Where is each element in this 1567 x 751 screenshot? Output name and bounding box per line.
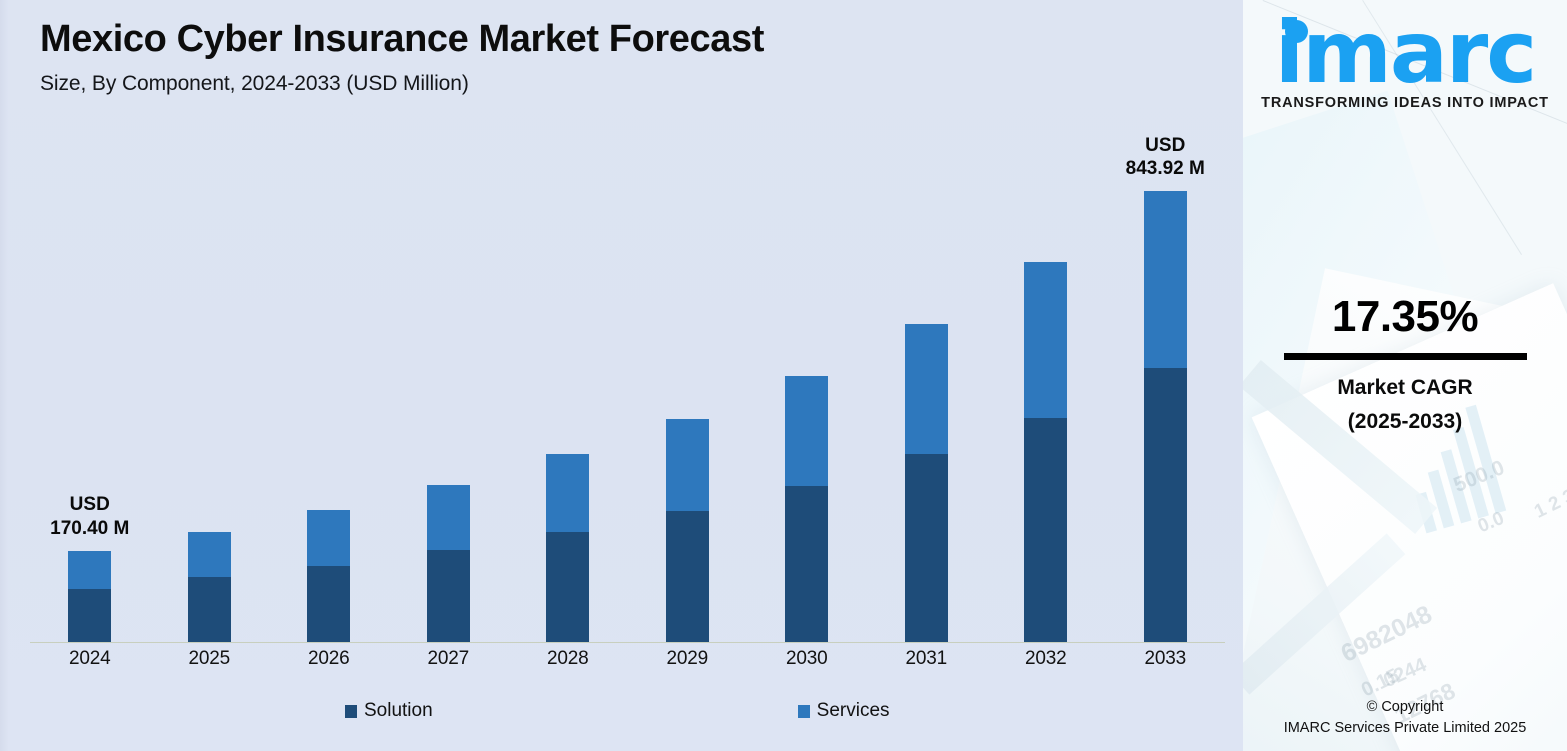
bar-group-2026[interactable] [269, 120, 389, 642]
bar-segment-services[interactable] [188, 532, 231, 577]
bar-group-2028[interactable] [508, 120, 628, 642]
bar-segment-solution[interactable] [1024, 418, 1067, 642]
bar-group-2030[interactable] [747, 120, 867, 642]
bar-segment-services[interactable] [666, 419, 709, 511]
x-axis-tick-2033: 2033 [1106, 648, 1226, 670]
bar-segment-solution[interactable] [785, 486, 828, 642]
bar-group-2031[interactable] [867, 120, 987, 642]
legend-label-services: Services [817, 700, 890, 722]
bar-segment-solution[interactable] [188, 577, 231, 642]
bar-group-2032[interactable] [986, 120, 1106, 642]
bar-group-2027[interactable] [389, 120, 509, 642]
bar-stack[interactable] [666, 419, 709, 642]
bar-stack[interactable] [905, 324, 948, 642]
legend-swatch-services [798, 705, 810, 718]
bar-segment-services[interactable] [1024, 262, 1067, 418]
x-axis-tick-2031: 2031 [867, 648, 987, 670]
bar-segment-services[interactable] [546, 454, 589, 532]
x-axis-labels: 2024202520262027202820292030203120322033 [30, 648, 1225, 670]
x-axis-tick-2026: 2026 [269, 648, 389, 670]
bar-segment-solution[interactable] [307, 566, 350, 642]
bar-segment-solution[interactable] [666, 511, 709, 642]
x-axis-tick-2027: 2027 [389, 648, 509, 670]
bar-series-container: USD170.40 MUSD843.92 M [30, 120, 1225, 642]
infographic-root: Mexico Cyber Insurance Market Forecast S… [0, 0, 1567, 751]
logo-dot-icon [1285, 20, 1308, 43]
legend-item-solution[interactable]: Solution [345, 700, 433, 722]
bar-value-label-2024: USD170.40 M [50, 493, 129, 541]
value-label-line-2: 170.40 M [50, 517, 129, 541]
cagr-period: (2025-2033) [1243, 410, 1567, 434]
x-axis-line [30, 642, 1225, 643]
x-axis-tick-2028: 2028 [508, 648, 628, 670]
page-subtitle: Size, By Component, 2024-2033 (USD Milli… [40, 72, 764, 96]
imarc-wordmark: imarc [1275, 14, 1536, 93]
cagr-label: Market CAGR [1243, 376, 1567, 400]
bar-segment-solution[interactable] [68, 589, 111, 642]
bar-segment-services[interactable] [1144, 191, 1187, 368]
bar-segment-services[interactable] [785, 376, 828, 486]
bar-segment-solution[interactable] [546, 532, 589, 642]
bar-segment-solution[interactable] [427, 550, 470, 642]
title-block: Mexico Cyber Insurance Market Forecast S… [40, 18, 764, 96]
brand-content: imarc TRANSFORMING IDEAS INTO IMPACT 17.… [1243, 0, 1567, 751]
page-title: Mexico Cyber Insurance Market Forecast [40, 18, 764, 62]
bar-stack[interactable] [1144, 191, 1187, 642]
bar-group-2029[interactable] [628, 120, 748, 642]
bar-stack[interactable] [785, 376, 828, 642]
bar-segment-solution[interactable] [905, 454, 948, 642]
x-axis-tick-2025: 2025 [150, 648, 270, 670]
bar-stack[interactable] [546, 454, 589, 642]
bar-stack[interactable] [1024, 262, 1067, 642]
bar-group-2033[interactable]: USD843.92 M [1106, 120, 1226, 642]
brand-panel: 500.0 0.0 1 2 3 4 6982048 12768 0244 0.1… [1243, 0, 1567, 751]
x-axis-tick-2032: 2032 [986, 648, 1106, 670]
x-axis-tick-2030: 2030 [747, 648, 867, 670]
bar-stack[interactable] [307, 510, 350, 642]
plot-area: USD170.40 MUSD843.92 M [30, 120, 1225, 643]
bar-segment-solution[interactable] [1144, 368, 1187, 642]
imarc-logo: imarc TRANSFORMING IDEAS INTO IMPACT [1243, 14, 1567, 111]
copyright-block: © Copyright IMARC Services Private Limit… [1243, 697, 1567, 739]
copyright-line-1: © Copyright [1243, 697, 1567, 718]
bar-group-2024[interactable]: USD170.40 M [30, 120, 150, 642]
bar-segment-services[interactable] [427, 485, 470, 550]
x-axis-tick-2029: 2029 [628, 648, 748, 670]
bar-stack[interactable] [68, 551, 111, 642]
cagr-block: 17.35% Market CAGR (2025-2033) [1243, 295, 1567, 434]
x-axis-tick-2024: 2024 [30, 648, 150, 670]
legend-item-services[interactable]: Services [798, 700, 890, 722]
bar-segment-services[interactable] [68, 551, 111, 589]
cagr-divider [1284, 353, 1527, 360]
bar-group-2025[interactable] [150, 120, 270, 642]
imarc-logo-text: imarc [1275, 3, 1536, 103]
value-label-line-2: 843.92 M [1126, 157, 1205, 181]
copyright-line-2: IMARC Services Private Limited 2025 [1243, 718, 1567, 739]
chart-legend: Solution Services [30, 700, 1225, 722]
legend-swatch-solution [345, 705, 357, 718]
bar-segment-services[interactable] [905, 324, 948, 454]
chart-panel: Mexico Cyber Insurance Market Forecast S… [0, 0, 1243, 751]
cagr-value: 17.35% [1243, 295, 1567, 339]
bar-stack[interactable] [427, 485, 470, 642]
value-label-line-1: USD [1126, 134, 1205, 158]
bar-segment-services[interactable] [307, 510, 350, 566]
bar-value-label-2033: USD843.92 M [1126, 134, 1205, 182]
legend-label-solution: Solution [364, 700, 433, 722]
value-label-line-1: USD [50, 493, 129, 517]
bar-stack[interactable] [188, 532, 231, 642]
